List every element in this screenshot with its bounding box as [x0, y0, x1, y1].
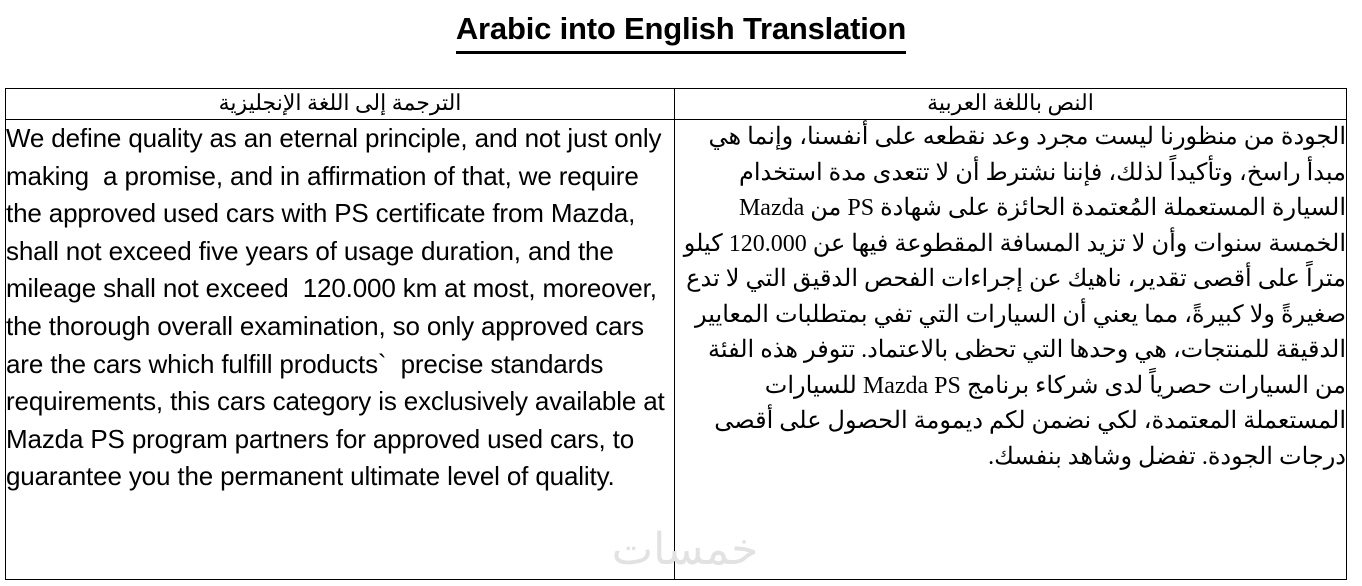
arabic-source-text: الجودة من منظورنا ليست مجرد وعد نقطعه عل… [675, 120, 1346, 475]
column-header-arabic-source: النص باللغة العربية [675, 89, 1347, 120]
translation-table: الترجمة إلى اللغة الإنجليزية النص باللغة… [5, 88, 1347, 580]
english-translation-cell: We define quality as an eternal principl… [6, 120, 675, 580]
english-translation-text: We define quality as an eternal principl… [6, 120, 674, 496]
table-header-row: الترجمة إلى اللغة الإنجليزية النص باللغة… [6, 89, 1347, 120]
page-title: Arabic into English Translation [0, 8, 1362, 54]
column-header-english-translation: الترجمة إلى اللغة الإنجليزية [6, 89, 675, 120]
table-row: We define quality as an eternal principl… [6, 120, 1347, 580]
page-title-text: Arabic into English Translation [456, 8, 906, 54]
document-page: Arabic into English Translation الترجمة … [0, 0, 1362, 586]
arabic-source-cell: الجودة من منظورنا ليست مجرد وعد نقطعه عل… [675, 120, 1347, 580]
